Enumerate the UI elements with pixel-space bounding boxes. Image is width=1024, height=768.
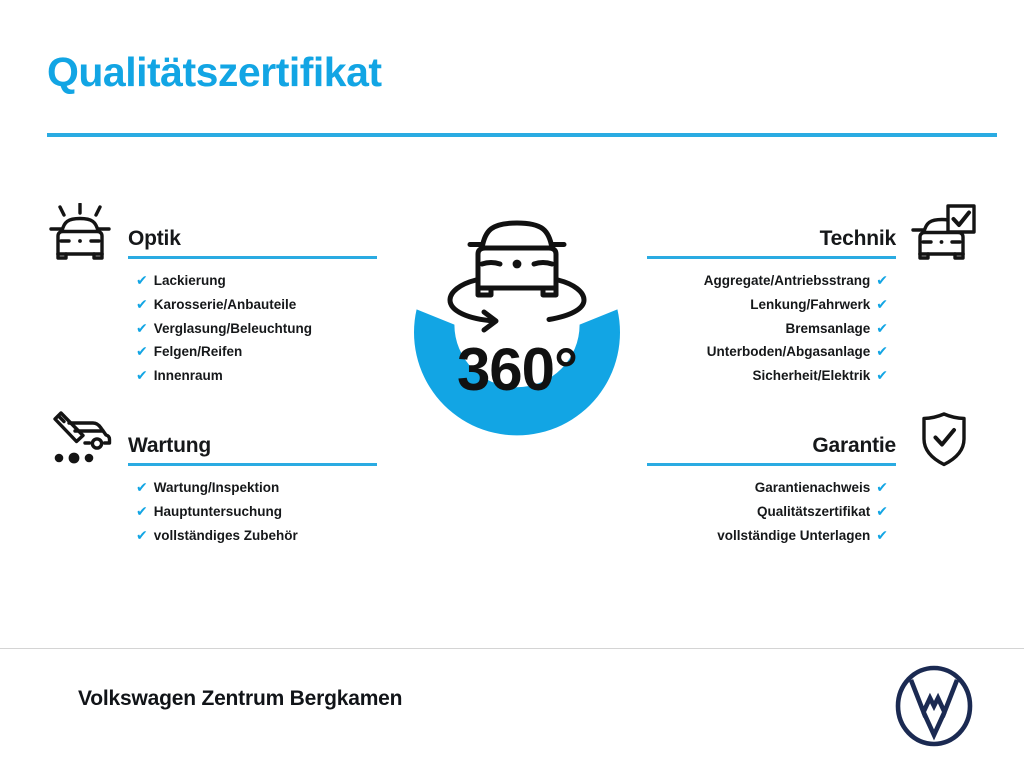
list-item: Qualitätszertifikat ✔	[597, 500, 977, 524]
check-icon: ✔	[136, 504, 148, 518]
list-item-label: Innenraum	[154, 364, 223, 388]
list-item-label: Sicherheit/Elektrik	[752, 364, 870, 388]
list-item-label: Lenkung/Fahrwerk	[750, 293, 870, 317]
section-title: Technik	[820, 227, 896, 251]
check-icon: ✔	[876, 321, 888, 335]
check-icon: ✔	[876, 344, 888, 358]
check-icon: ✔	[876, 273, 888, 287]
list-item: ✔ Innenraum	[47, 364, 427, 388]
check-icon: ✔	[136, 528, 148, 542]
car-shine-icon	[47, 203, 113, 261]
section-divider	[647, 463, 896, 466]
section-title: Optik	[128, 227, 181, 251]
list-item-label: vollständige Unterlagen	[717, 524, 870, 548]
section-divider	[128, 256, 377, 259]
list-item: vollständige Unterlagen ✔	[597, 524, 977, 548]
section-title: Wartung	[128, 434, 211, 458]
list-item: ✔ Hauptuntersuchung	[47, 500, 427, 524]
list-item-label: Bremsanlage	[785, 317, 870, 341]
certificate-page: Qualitätszertifikat	[0, 0, 1024, 768]
section-divider	[647, 256, 896, 259]
list-item-label: vollständiges Zubehör	[154, 524, 298, 548]
list-item: ✔ Wartung/Inspektion	[47, 476, 427, 500]
dealer-name: Volkswagen Zentrum Bergkamen	[78, 687, 402, 711]
list-item-label: Aggregate/Antriebsstrang	[704, 269, 871, 293]
gebrauchtwagen-check-badge: Gebrauchtwagen-Check 360°	[372, 196, 662, 496]
list-item: ✔ Lackierung	[47, 269, 427, 293]
list-item-label: Karosserie/Anbauteile	[154, 293, 297, 317]
section-optik: Optik ✔ Lackierung ✔ Karosserie/Anbautei…	[47, 205, 427, 386]
check-icon: ✔	[876, 368, 888, 382]
list-item: ✔ Felgen/Reifen	[47, 340, 427, 364]
list-item-label: Unterboden/Abgasanlage	[707, 340, 871, 364]
check-icon: ✔	[876, 480, 888, 494]
pencil-car-icon	[47, 410, 113, 468]
page-title: Qualitätszertifikat	[47, 50, 382, 95]
check-icon: ✔	[876, 297, 888, 311]
list-item: ✔ Verglasung/Beleuchtung	[47, 317, 427, 341]
list-item-label: Felgen/Reifen	[154, 340, 243, 364]
title-divider	[47, 133, 997, 137]
list-item-label: Garantienachweis	[755, 476, 871, 500]
checklist-wartung: ✔ Wartung/Inspektion ✔ Hauptuntersuchung…	[47, 476, 427, 547]
footer-divider	[0, 648, 1024, 649]
list-item-label: Lackierung	[154, 269, 226, 293]
car-checkbox-icon	[911, 203, 977, 261]
check-icon: ✔	[136, 321, 148, 335]
section-title: Garantie	[812, 434, 896, 458]
car-rotation-icon	[450, 223, 584, 330]
section-divider	[128, 463, 377, 466]
shield-check-icon	[911, 410, 977, 468]
section-header: Optik	[47, 205, 427, 267]
check-icon: ✔	[136, 480, 148, 494]
check-icon: ✔	[136, 297, 148, 311]
section-header: Wartung	[47, 412, 427, 474]
section-wartung: Wartung ✔ Wartung/Inspektion ✔ Hauptunte…	[47, 412, 427, 545]
list-item-label: Verglasung/Beleuchtung	[154, 317, 312, 341]
list-item: ✔ Karosserie/Anbauteile	[47, 293, 427, 317]
list-item: ✔ vollständiges Zubehör	[47, 524, 427, 548]
badge-degrees: 360°	[457, 336, 577, 403]
vw-logo	[893, 665, 975, 747]
check-icon: ✔	[136, 344, 148, 358]
check-icon: ✔	[876, 504, 888, 518]
checklist-optik: ✔ Lackierung ✔ Karosserie/Anbauteile ✔ V…	[47, 269, 427, 388]
check-icon: ✔	[136, 368, 148, 382]
check-icon: ✔	[876, 528, 888, 542]
list-item-label: Qualitätszertifikat	[757, 500, 870, 524]
list-item-label: Wartung/Inspektion	[154, 476, 280, 500]
check-icon: ✔	[136, 273, 148, 287]
list-item-label: Hauptuntersuchung	[154, 500, 282, 524]
